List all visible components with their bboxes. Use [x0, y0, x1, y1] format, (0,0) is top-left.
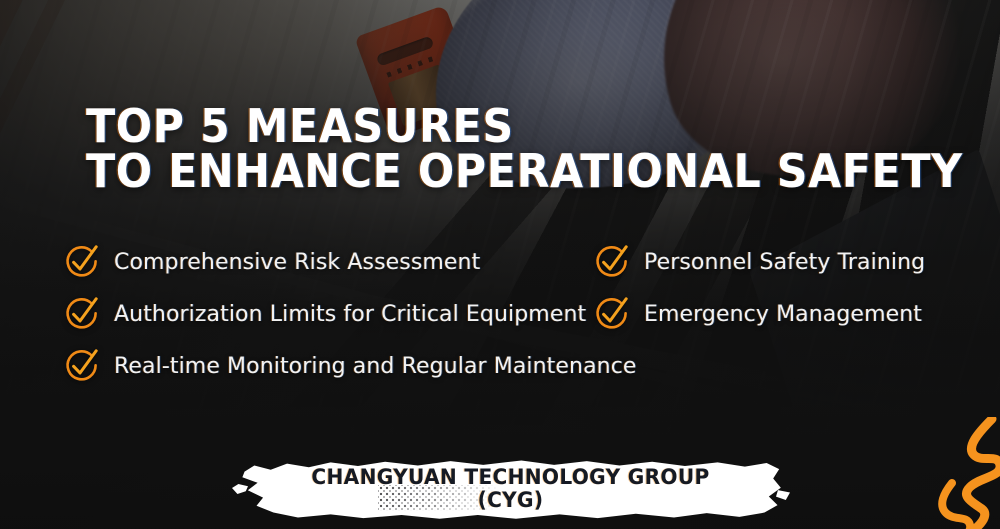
safety-poster: TOP 5 MEASURES TO ENHANCE OPERATIONAL SA… [0, 0, 1000, 529]
checklist-row: Comprehensive Risk Assessment Personnel … [62, 236, 962, 288]
list-item-label: Authorization Limits for Critical Equipm… [114, 302, 586, 327]
list-item-label: Real-time Monitoring and Regular Mainten… [114, 354, 637, 379]
list-item-label: Comprehensive Risk Assessment [114, 250, 480, 275]
page-title: TOP 5 MEASURES TO ENHANCE OPERATIONAL SA… [86, 104, 963, 194]
list-item: Authorization Limits for Critical Equipm… [62, 288, 592, 340]
checklist-row: Real-time Monitoring and Regular Mainten… [62, 340, 962, 392]
list-item: Real-time Monitoring and Regular Mainten… [62, 340, 592, 392]
page-title-line-2: TO ENHANCE OPERATIONAL SAFETY [86, 149, 963, 194]
list-item: Comprehensive Risk Assessment [62, 236, 592, 288]
company-banner: CHANGYUAN TECHNOLOGY GROUP (CYG) [238, 458, 783, 520]
checklist-row: Authorization Limits for Critical Equipm… [62, 288, 962, 340]
check-circle-icon [592, 242, 632, 282]
list-item: Personnel Safety Training [592, 236, 952, 288]
page-title-line-1: TOP 5 MEASURES [86, 104, 963, 149]
check-circle-icon [62, 346, 102, 386]
check-circle-icon [62, 294, 102, 334]
company-name-line-1: CHANGYUAN TECHNOLOGY GROUP [311, 466, 709, 489]
company-name: CHANGYUAN TECHNOLOGY GROUP (CYG) [249, 458, 772, 520]
measures-checklist: Comprehensive Risk Assessment Personnel … [62, 236, 962, 392]
company-name-line-2: (CYG) [478, 489, 544, 512]
check-circle-icon [592, 294, 632, 334]
check-circle-icon [62, 242, 102, 282]
list-item-label: Emergency Management [644, 302, 922, 327]
list-item-label: Personnel Safety Training [644, 250, 925, 275]
list-item: Emergency Management [592, 288, 952, 340]
